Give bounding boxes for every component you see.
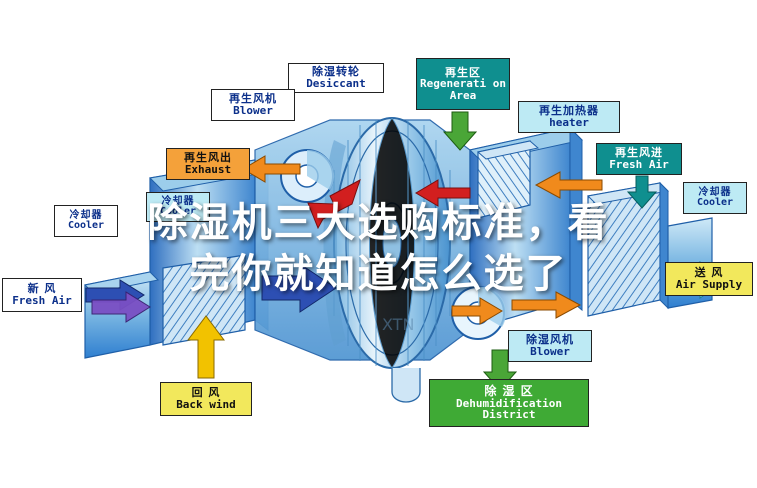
label-dehumidification-district: 除 湿 区 Dehumidification District — [429, 379, 589, 427]
label-dehumidification-blower: 除湿风机 Blower — [508, 330, 592, 362]
label-dehumidification-district-en: Dehumidification District — [430, 398, 588, 421]
label-regeneration-exhaust-en: Exhaust — [185, 164, 231, 176]
diagram-canvas: XTN 除湿转轮 Desiccant 再生区 Regenerati on Are… — [0, 0, 757, 488]
label-regeneration-area: 再生区 Regenerati on Area — [416, 58, 510, 110]
label-regeneration-exhaust: 再生风出 Exhaust — [166, 148, 250, 180]
label-regeneration-blower: 再生风机 Blower — [211, 89, 295, 121]
label-regeneration-fresh-air: 再生风进 Fresh Air — [596, 143, 682, 175]
label-back-wind-en: Back wind — [176, 399, 236, 411]
overlay-headline-line2: 完你就知道怎么选了 — [190, 249, 568, 300]
label-regeneration-fresh-air-en: Fresh Air — [609, 159, 669, 171]
label-regeneration-blower-en: Blower — [233, 105, 273, 117]
label-desiccant-wheel-en: Desiccant — [306, 78, 366, 90]
label-regeneration-heater-en: heater — [549, 117, 589, 129]
label-dehumidification-blower-en: Blower — [530, 346, 570, 358]
svg-text:XTN: XTN — [382, 315, 414, 334]
label-regeneration-area-en: Regenerati on Area — [417, 78, 509, 101]
label-desiccant-wheel: 除湿转轮 Desiccant — [288, 63, 384, 93]
label-regeneration-heater: 再生加热器 heater — [518, 101, 620, 133]
overlay-headline: 除湿机三大选购标准，看 完你就知道怎么选了 — [0, 196, 757, 302]
label-back-wind: 回 风 Back wind — [160, 382, 252, 416]
overlay-headline-line1: 除湿机三大选购标准，看 — [148, 198, 610, 249]
label-dehumidification-district-cn: 除 湿 区 — [484, 385, 533, 398]
